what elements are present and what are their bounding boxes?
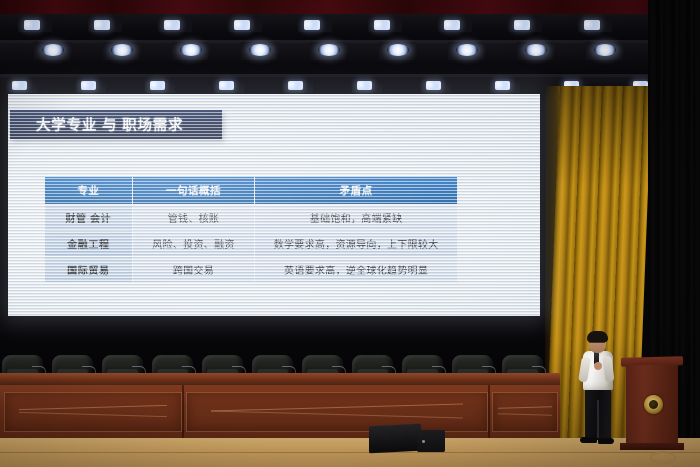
- cell-major: 国际贸易: [45, 257, 132, 282]
- stage-lamp: [318, 44, 340, 56]
- desk-microphone-icon: [432, 366, 446, 373]
- cluster-lamp: [426, 81, 441, 90]
- cell-summary: 风险、投资、融资: [133, 231, 255, 256]
- table-panel: [4, 392, 182, 432]
- cell-conflict: 数学要求高，资源导向，上下限较大: [255, 231, 457, 256]
- table-header-row: 专业 一句话概括 矛盾点: [45, 177, 457, 204]
- stage-lamp: [180, 44, 202, 56]
- presenter-shoe-right: [598, 438, 614, 444]
- desk-microphone-icon: [232, 366, 246, 373]
- cluster-lamp: [81, 81, 96, 90]
- cluster-lamp: [374, 20, 390, 30]
- stage-lamp: [387, 44, 409, 56]
- cell-conflict: 英语要求高，逆全球化趋势明显: [255, 257, 457, 282]
- presentation-slide: 大学专业 与 职场需求 专业 一句话概括 矛盾点 财管 会计 管钱、核账 基础饱…: [8, 94, 540, 316]
- cluster-lamp: [150, 81, 165, 90]
- majors-vs-market-table: 专业 一句话概括 矛盾点 财管 会计 管钱、核账 基础饱和，高端紧缺 金融工程 …: [44, 176, 458, 283]
- stage-lamp: [42, 44, 64, 56]
- stage-monitor-speaker-side: [417, 430, 445, 452]
- cluster-lamp: [357, 81, 372, 90]
- desk-microphone-icon: [482, 366, 496, 373]
- presenter-shoe-left: [580, 437, 597, 443]
- cluster-lamp: [495, 81, 510, 90]
- table-panel: [186, 392, 488, 432]
- column-header-summary: 一句话概括: [133, 177, 255, 204]
- cluster-lamp: [444, 20, 460, 30]
- desk-microphone-icon: [82, 366, 96, 373]
- presenter-hair: [587, 331, 608, 342]
- table-seam: [182, 385, 184, 438]
- table-row: 国际贸易 跨国交易 英语要求高，逆全球化趋势明显: [45, 257, 457, 282]
- cell-summary: 管钱、核账: [133, 205, 255, 230]
- desk-microphone-icon: [332, 366, 346, 373]
- glasses-icon: [589, 342, 605, 347]
- conference-table-front: [0, 385, 560, 438]
- conference-table-top: [0, 373, 560, 385]
- cell-conflict: 基础饱和，高端紧缺: [255, 205, 457, 230]
- stage-monitor-speaker: [369, 424, 421, 454]
- table-header: 专业 一句话概括 矛盾点: [45, 177, 457, 204]
- stage-lamp: [456, 44, 478, 56]
- table-seam: [488, 385, 490, 438]
- cluster-lamp: [288, 81, 303, 90]
- stage-lamp: [111, 44, 133, 56]
- desk-microphone-icon: [282, 366, 296, 373]
- stage-floor-seam: [0, 452, 700, 453]
- cell-major: 财管 会计: [45, 205, 132, 230]
- table-row: 金融工程 风险、投资、融资 数学要求高，资源导向，上下限较大: [45, 231, 457, 256]
- stage-lamp: [594, 44, 616, 56]
- cluster-lamp: [304, 20, 320, 30]
- desk-microphone-icon: [382, 366, 396, 373]
- cluster-lamp: [219, 81, 234, 90]
- podium-base: [620, 443, 684, 450]
- slide-title-banner: 大学专业 与 职场需求: [10, 110, 222, 139]
- presenter-hand: [594, 362, 602, 370]
- cell-summary: 跨国交易: [133, 257, 255, 282]
- cluster-lamp: [164, 20, 180, 30]
- desk-microphone-icon: [32, 366, 46, 373]
- cluster-lamp: [234, 20, 250, 30]
- cell-major: 金融工程: [45, 231, 132, 256]
- desk-microphone-icon: [132, 366, 146, 373]
- rig-beam-lower: [0, 74, 700, 77]
- cable-coil: [650, 451, 676, 464]
- table-body: 财管 会计 管钱、核账 基础饱和，高端紧缺 金融工程 风险、投资、融资 数学要求…: [45, 205, 457, 282]
- slide-title-text: 大学专业 与 职场需求: [10, 114, 183, 135]
- table-row: 财管 会计 管钱、核账 基础饱和，高端紧缺: [45, 205, 457, 230]
- cluster-lamp: [584, 20, 600, 30]
- column-header-conflict: 矛盾点: [255, 177, 457, 204]
- auditorium-stage-photo: 大学专业 与 职场需求 专业 一句话概括 矛盾点 财管 会计 管钱、核账 基础饱…: [0, 0, 700, 467]
- stage-lamp: [525, 44, 547, 56]
- cluster-lamp: [514, 20, 530, 30]
- presenter-leg-split: [597, 400, 599, 438]
- cluster-lamp: [94, 20, 110, 30]
- desk-microphone-icon: [182, 366, 196, 373]
- stage-lamp: [249, 44, 271, 56]
- desk-microphone-icon: [532, 366, 546, 373]
- cluster-lamp: [24, 20, 40, 30]
- table-panel: [492, 392, 558, 432]
- podium-emblem-icon: [644, 395, 663, 414]
- led-projection-screen: 大学专业 与 职场需求 专业 一句话概括 矛盾点 财管 会计 管钱、核账 基础饱…: [8, 94, 540, 316]
- column-header-major: 专业: [45, 177, 132, 204]
- cluster-lamp: [12, 81, 27, 90]
